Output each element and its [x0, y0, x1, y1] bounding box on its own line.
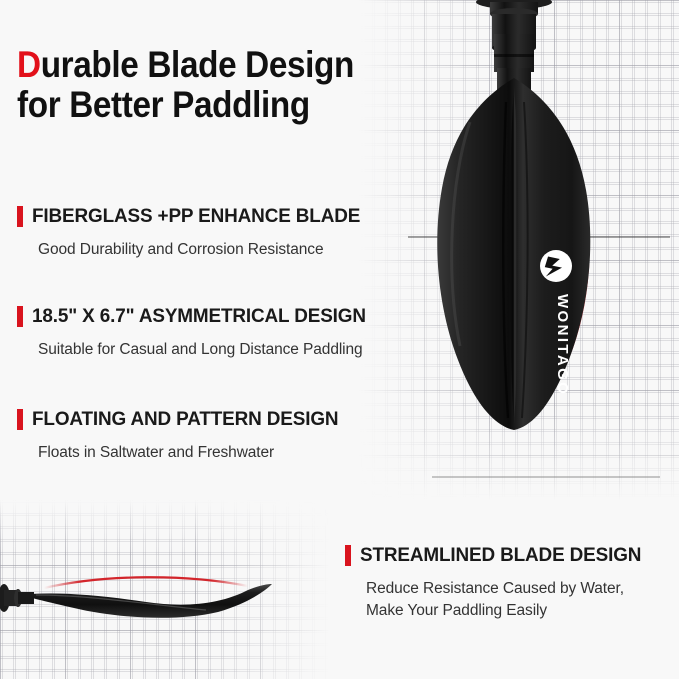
page-title: Durable Blade Design for Better Paddling — [17, 45, 377, 126]
title-line-2: for Better Paddling — [17, 84, 310, 125]
feature-title: 18.5" X 6.7" ASYMMETRICAL DESIGN — [32, 305, 366, 328]
title-line-1: urable Blade Design — [41, 44, 354, 85]
feature-title: STREAMLINED BLADE DESIGN — [360, 544, 641, 567]
paddle-blade-profile-image — [0, 552, 296, 642]
feature-title: FIBERGLASS +PP ENHANCE BLADE — [32, 205, 360, 228]
brand-logo-icon — [540, 250, 572, 282]
product-feature-graphic: Durable Blade Design for Better Paddling… — [0, 0, 679, 679]
blade-profile-body — [32, 584, 272, 618]
feature-item-asymmetrical: 18.5" X 6.7" ASYMMETRICAL DESIGN Suitabl… — [17, 305, 376, 361]
feature-item-floating: FLOATING AND PATTERN DESIGN Floats in Sa… — [17, 408, 348, 464]
feature-item-fiberglass: FIBERGLASS +PP ENHANCE BLADE Good Durabi… — [17, 205, 370, 261]
red-bullet-icon — [345, 545, 351, 566]
feature-subtitle: Good Durability and Corrosion Resistance — [38, 239, 370, 261]
feature-heading-row: STREAMLINED BLADE DESIGN — [345, 544, 650, 567]
paddle-blade-front-image: WONITAGO — [398, 0, 679, 494]
feature-subtitle: Floats in Saltwater and Freshwater — [38, 442, 348, 464]
feature-heading-row: FLOATING AND PATTERN DESIGN — [17, 408, 348, 431]
title-accent-letter: D — [17, 44, 41, 85]
red-accent-arc — [44, 577, 248, 588]
feature-item-streamlined: STREAMLINED BLADE DESIGN Reduce Resistan… — [345, 544, 650, 623]
feature-title: FLOATING AND PATTERN DESIGN — [32, 408, 338, 431]
red-bullet-icon — [17, 206, 23, 227]
feature-heading-row: 18.5" X 6.7" ASYMMETRICAL DESIGN — [17, 305, 376, 328]
red-bullet-icon — [17, 306, 23, 327]
feature-heading-row: FIBERGLASS +PP ENHANCE BLADE — [17, 205, 370, 228]
brand-wordmark: WONITAGO — [554, 294, 571, 396]
paddle-shaft-end — [0, 584, 34, 612]
red-bullet-icon — [17, 409, 23, 430]
feature-subtitle: Reduce Resistance Caused by Water, Make … — [366, 578, 650, 623]
feature-subtitle: Suitable for Casual and Long Distance Pa… — [38, 339, 376, 361]
